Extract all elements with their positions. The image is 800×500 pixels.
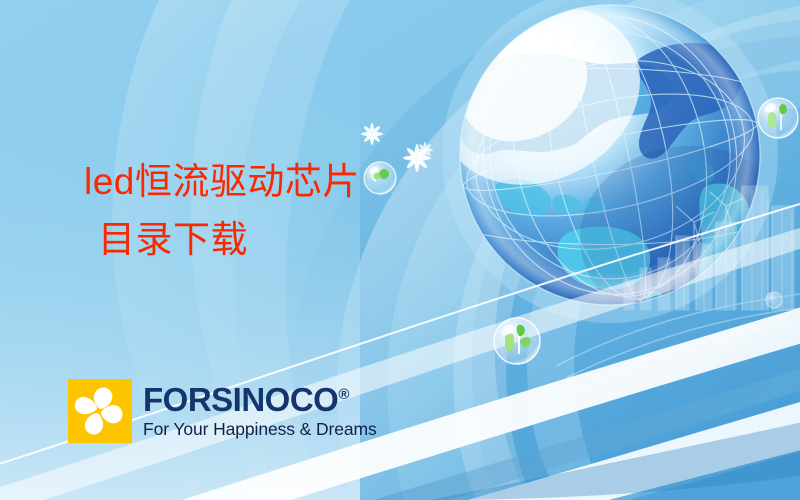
logo-wordmark: FORSINOCO® (143, 383, 377, 416)
registered-trademark-symbol: ® (338, 386, 349, 403)
company-logo[interactable]: FORSINOCO® For Your Happiness & Dreams (68, 379, 377, 443)
bubble-with-sprout-edge (758, 98, 798, 138)
headline-line-2: 目录下载 (98, 221, 360, 258)
logo-tagline: For Your Happiness & Dreams (143, 419, 377, 440)
four-petal-pinwheel-mark (68, 379, 132, 443)
headline-line-1: led恒流驱动芯片 (84, 163, 360, 200)
logo-wordmark-text: FORSINOCO (143, 381, 338, 418)
bubble-small-decorative (766, 292, 782, 308)
banner-canvas: led恒流驱动芯片 目录下载 FORSINOCO® For Your Happi… (0, 0, 800, 500)
logo-text-block: FORSINOCO® For Your Happiness & Dreams (143, 383, 377, 440)
bubble-with-sprout-small (364, 162, 396, 194)
headline-block: led恒流驱动芯片 目录下载 (84, 163, 360, 258)
bubble-with-sprout-large (494, 318, 540, 364)
sparkle-star-edge (417, 142, 433, 158)
pinwheel-icon (68, 379, 132, 443)
sparkle-star-small (361, 123, 383, 145)
